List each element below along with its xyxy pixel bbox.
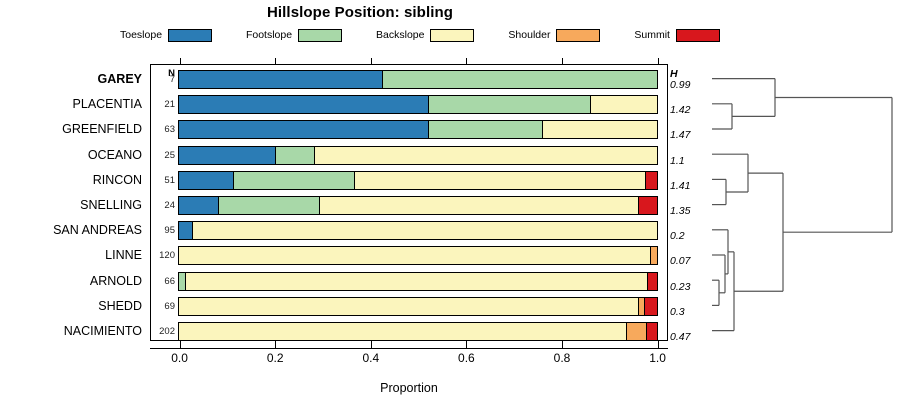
dendrogram (700, 60, 896, 350)
x-axis-line (150, 348, 668, 349)
x-axis-top-tick (371, 58, 372, 64)
y-axis-label-arnold: ARNOLD (0, 274, 142, 288)
row-n-value: 21 (150, 99, 175, 111)
x-axis-top-tick (658, 58, 659, 64)
row-n-value: 63 (150, 124, 175, 136)
legend-item-toeslope: Toeslope (120, 29, 212, 42)
bar-segment-summit (647, 273, 657, 290)
stacked-bar (178, 322, 658, 341)
x-axis: 0.00.20.40.60.81.0 (150, 341, 668, 381)
chart-root: Hillslope Position: sibling ToeslopeFoot… (0, 0, 900, 420)
x-axis-tick (466, 341, 467, 348)
bar-segment-footslope (233, 172, 354, 189)
bar-segment-toeslope (179, 222, 192, 239)
bar-segment-footslope (218, 197, 319, 214)
x-axis-tick-label: 0.6 (446, 351, 486, 365)
x-axis-tick-label: 0.4 (351, 351, 391, 365)
y-axis-label-oceano: OCEANO (0, 148, 142, 162)
stacked-bar (178, 246, 658, 265)
bar-segment-summit (645, 172, 657, 189)
legend-label: Footslope (246, 29, 292, 41)
bar-segment-backslope (319, 197, 638, 214)
stacked-bar (178, 272, 658, 291)
bar-segment-backslope (192, 222, 657, 239)
legend-swatch (430, 29, 474, 42)
table-row: 25 (150, 142, 668, 167)
legend-item-shoulder: Shoulder (508, 29, 600, 42)
y-axis-labels: GAREYPLACENTIAGREENFIELDOCEANORINCONSNEL… (0, 64, 146, 341)
y-axis-label-placentia: PLACENTIA (0, 97, 142, 111)
row-n-value: 66 (150, 276, 175, 288)
stacked-bar (178, 120, 658, 139)
table-row: 202 (150, 318, 668, 343)
bar-segment-footslope (428, 96, 591, 113)
stacked-bar (178, 70, 658, 89)
x-axis-top-tick (562, 58, 563, 64)
bar-segment-backslope (590, 96, 657, 113)
stacked-bar-rows: N72163255124951206669202 (150, 64, 668, 341)
x-axis-tick-label: 0.0 (160, 351, 200, 365)
x-axis-tick (275, 341, 276, 348)
x-axis-top-tick (275, 58, 276, 64)
bar-segment-footslope (428, 121, 543, 138)
table-row: 95 (150, 217, 668, 242)
bar-segment-backslope (179, 298, 638, 315)
bar-segment-backslope (179, 247, 650, 264)
bar-segment-backslope (179, 323, 626, 340)
row-n-value: 69 (150, 301, 175, 313)
bar-segment-summit (644, 298, 657, 315)
bar-segment-toeslope (179, 147, 275, 164)
row-n-value: 24 (150, 200, 175, 212)
legend-swatch (168, 29, 212, 42)
x-axis-tick (562, 341, 563, 348)
bar-segment-backslope (185, 273, 647, 290)
legend-item-summit: Summit (634, 29, 720, 42)
row-n-value: 51 (150, 175, 175, 187)
table-row: 69 (150, 293, 668, 318)
bar-segment-footslope (382, 71, 657, 88)
table-row: 21 (150, 91, 668, 116)
legend-swatch (298, 29, 342, 42)
legend-item-footslope: Footslope (246, 29, 342, 42)
legend-label: Shoulder (508, 29, 550, 41)
y-axis-label-linne: LINNE (0, 248, 142, 262)
table-row: 66 (150, 268, 668, 293)
legend-swatch (556, 29, 600, 42)
y-axis-label-shedd: SHEDD (0, 299, 142, 313)
bar-segment-summit (646, 323, 657, 340)
row-n-value: 95 (150, 225, 175, 237)
y-axis-label-rincon: RINCON (0, 173, 142, 187)
bar-segment-toeslope (179, 197, 218, 214)
x-axis-title: Proportion (150, 381, 668, 395)
x-axis-tick (180, 341, 181, 348)
stacked-bar (178, 146, 658, 165)
page-title: Hillslope Position: sibling (0, 4, 720, 21)
table-row: 51 (150, 167, 668, 192)
stacked-bar (178, 196, 658, 215)
bar-segment-summit (638, 197, 657, 214)
x-axis-top-tick (466, 58, 467, 64)
table-row: 120 (150, 242, 668, 267)
legend-label: Backslope (376, 29, 424, 41)
x-axis-tick (371, 341, 372, 348)
stacked-bar (178, 95, 658, 114)
y-axis-label-snelling: SNELLING (0, 198, 142, 212)
bar-segment-backslope (314, 147, 657, 164)
table-row: 63 (150, 116, 668, 141)
bar-segment-backslope (542, 121, 657, 138)
bar-segment-shoulder (650, 247, 657, 264)
y-axis-label-nacimiento: NACIMIENTO (0, 324, 142, 338)
y-axis-label-greenfield: GREENFIELD (0, 122, 142, 136)
stacked-bar (178, 297, 658, 316)
legend-item-backslope: Backslope (376, 29, 474, 42)
legend-swatch (676, 29, 720, 42)
table-row: 24 (150, 192, 668, 217)
stacked-bar (178, 171, 658, 190)
bar-segment-footslope (275, 147, 314, 164)
bar-segment-shoulder (626, 323, 646, 340)
bar-segment-toeslope (179, 96, 428, 113)
row-n-value: 7 (150, 74, 175, 86)
bar-segment-toeslope (179, 71, 382, 88)
bar-segment-toeslope (179, 121, 428, 138)
bar-segment-backslope (354, 172, 645, 189)
x-axis-tick-label: 0.8 (542, 351, 582, 365)
y-axis-label-garey: GAREY (0, 72, 142, 86)
x-axis-top-tick (180, 58, 181, 64)
x-axis-tick (658, 341, 659, 348)
x-axis-tick-label: 0.2 (255, 351, 295, 365)
row-n-value: 25 (150, 150, 175, 162)
row-n-value: 202 (150, 326, 175, 338)
legend-label: Summit (634, 29, 670, 41)
bar-segment-toeslope (179, 172, 233, 189)
x-axis-tick-label: 1.0 (638, 351, 678, 365)
y-axis-label-san-andreas: SAN ANDREAS (0, 223, 142, 237)
legend-label: Toeslope (120, 29, 162, 41)
stacked-bar (178, 221, 658, 240)
table-row: 7 (150, 66, 668, 91)
legend: ToeslopeFootslopeBackslopeShoulderSummit (120, 26, 720, 44)
row-n-value: 120 (150, 250, 175, 262)
